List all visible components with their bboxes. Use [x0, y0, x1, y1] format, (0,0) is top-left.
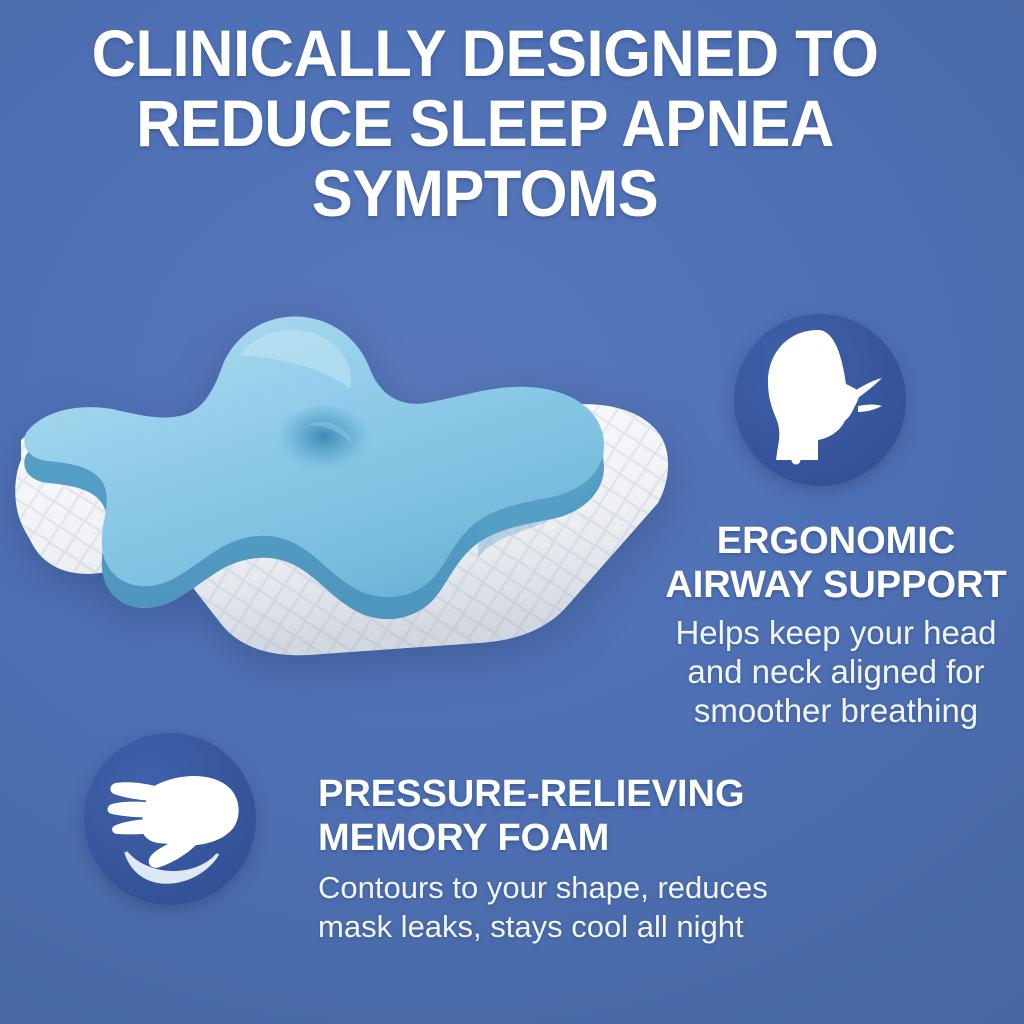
feature-body-airway: Helps keep your head and neck aligned fo… [652, 613, 1020, 730]
feature-icon-circle-foam [84, 733, 256, 905]
head-breathing-icon [734, 314, 906, 486]
page-title: CLINICALLY DESIGNED TO REDUCE SLEEP APNE… [34, 18, 936, 228]
feature-title-foam: PRESSURE-RELIEVING MEMORY FOAM [318, 772, 878, 860]
feature-body-foam: Contours to your shape, reduces mask lea… [318, 868, 878, 946]
feature-title-airway: ERGONOMIC AIRWAY SUPPORT [652, 519, 1020, 607]
feature-block-foam: PRESSURE-RELIEVING MEMORY FOAM Contours … [318, 772, 878, 946]
feature-block-airway: ERGONOMIC AIRWAY SUPPORT Helps keep your… [652, 519, 1020, 730]
pressing-hand-icon [84, 733, 256, 905]
product-image-pillow [8, 285, 708, 670]
feature-icon-circle-airway [734, 314, 906, 486]
infographic-canvas: CLINICALLY DESIGNED TO REDUCE SLEEP APNE… [0, 0, 1024, 1024]
